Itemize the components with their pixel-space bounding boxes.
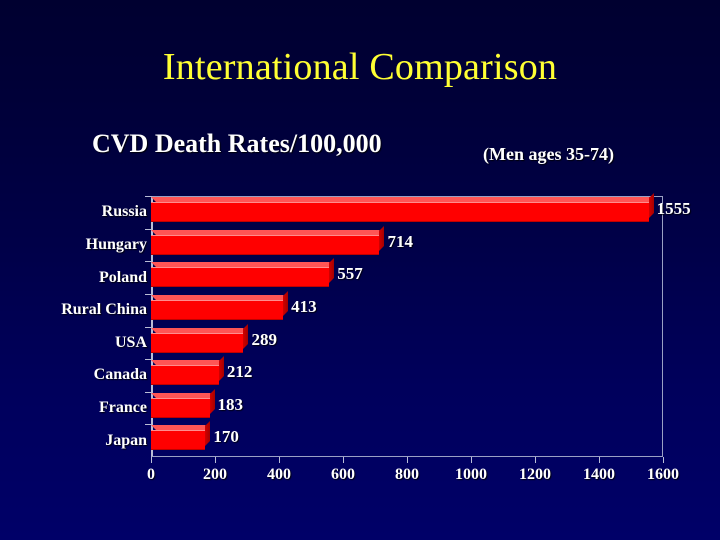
bar-value-label: 714 <box>387 231 413 253</box>
bar-end-cap <box>243 324 248 349</box>
bar-value-label: 183 <box>218 394 244 416</box>
chart-heading: CVD Death Rates/100,000 <box>92 129 382 159</box>
bar-hungary <box>151 235 379 255</box>
category-axis: RussiaHungaryPolandRural ChinaUSACanadaF… <box>0 196 147 457</box>
value-axis-tick <box>663 457 664 463</box>
bar-japan <box>151 430 205 450</box>
value-axis-tick <box>343 457 344 463</box>
category-label-russia: Russia <box>0 202 147 222</box>
bars-layer: 1555714557413289212183170 <box>151 196 663 457</box>
bar-top-face <box>151 425 210 430</box>
page-title: International Comparison <box>0 46 720 88</box>
bar-row: 714 <box>151 229 663 262</box>
bar-row: 289 <box>151 327 663 360</box>
value-axis: 02004006008001000120014001600 <box>151 457 663 493</box>
bar-row: 1555 <box>151 196 663 229</box>
chart-subheading: (Men ages 35-74) <box>483 143 614 165</box>
value-axis-label: 400 <box>267 465 291 485</box>
value-axis-label: 1200 <box>519 465 551 485</box>
value-axis-label: 600 <box>331 465 355 485</box>
bar-value-label: 212 <box>227 361 253 383</box>
bar-value-label: 289 <box>251 329 277 351</box>
bar-poland <box>151 267 329 287</box>
bar-end-cap <box>649 193 654 218</box>
bar-value-label: 557 <box>337 263 363 285</box>
slide-canvas: International Comparison CVD Death Rates… <box>0 0 720 540</box>
bar-top-face <box>151 197 654 202</box>
category-label-poland: Poland <box>0 268 147 288</box>
value-axis-tick <box>407 457 408 463</box>
bar-end-cap <box>205 421 210 446</box>
category-label-france: France <box>0 398 147 418</box>
bar-value-label: 413 <box>291 296 317 318</box>
value-axis-tick <box>151 457 152 463</box>
bar-top-face <box>151 360 224 365</box>
bar-value-label: 1555 <box>657 198 691 220</box>
value-axis-tick <box>535 457 536 463</box>
category-label-canada: Canada <box>0 365 147 385</box>
bar-row: 557 <box>151 261 663 294</box>
bar-canada <box>151 365 219 385</box>
bar-row: 183 <box>151 392 663 425</box>
bar-top-face <box>151 295 288 300</box>
value-axis-tick <box>471 457 472 463</box>
value-axis-label: 1600 <box>647 465 679 485</box>
bar-row: 212 <box>151 359 663 392</box>
value-axis-label: 1400 <box>583 465 615 485</box>
value-axis-label: 1000 <box>455 465 487 485</box>
bar-top-face <box>151 262 334 267</box>
bar-end-cap <box>379 226 384 251</box>
value-axis-tick <box>279 457 280 463</box>
bar-usa <box>151 333 243 353</box>
value-axis-label: 200 <box>203 465 227 485</box>
bar-end-cap <box>219 356 224 381</box>
bar-top-face <box>151 328 248 333</box>
category-label-hungary: Hungary <box>0 235 147 255</box>
bar-value-label: 170 <box>213 426 239 448</box>
category-label-usa: USA <box>0 333 147 353</box>
bar-top-face <box>151 393 215 398</box>
value-axis-tick <box>215 457 216 463</box>
bar-row: 170 <box>151 424 663 457</box>
bar-france <box>151 398 210 418</box>
bar-rural-china <box>151 300 283 320</box>
bar-russia <box>151 202 649 222</box>
bar-top-face <box>151 230 384 235</box>
bar-end-cap <box>329 258 334 283</box>
bar-end-cap <box>210 389 215 414</box>
bar-row: 413 <box>151 294 663 327</box>
bar-end-cap <box>283 291 288 316</box>
category-label-japan: Japan <box>0 431 147 451</box>
value-axis-label: 0 <box>147 465 155 485</box>
category-label-rural-china: Rural China <box>0 300 147 320</box>
value-axis-tick <box>599 457 600 463</box>
value-axis-label: 800 <box>395 465 419 485</box>
